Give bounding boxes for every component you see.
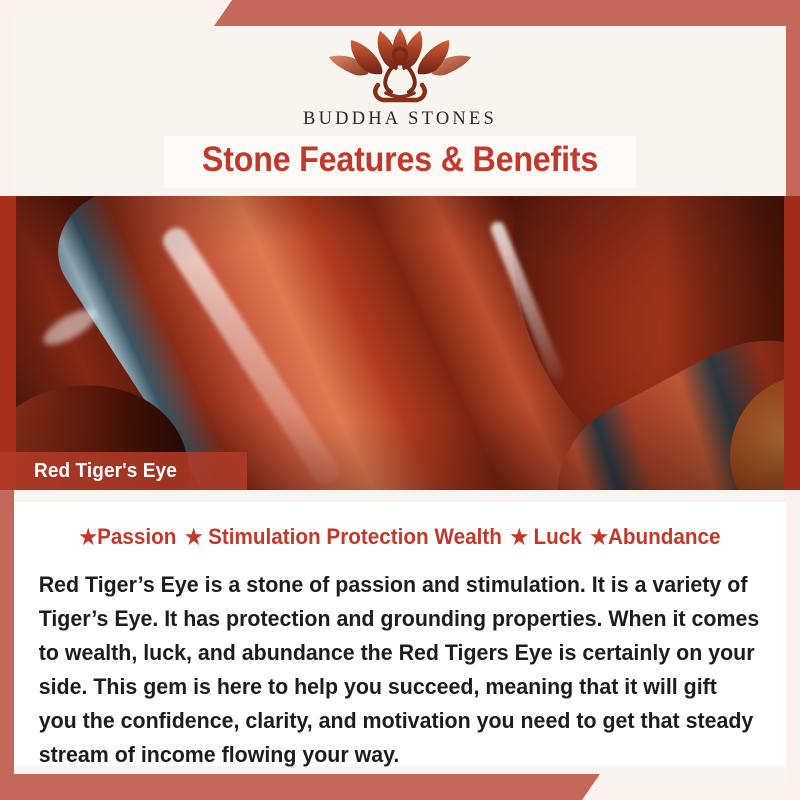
stone-photo: Red Tiger's Eye xyxy=(0,196,800,490)
benefits-list: ★Passion★ Stimulation Protection Wealth★… xyxy=(37,524,763,550)
benefit-label: Stimulation Protection Wealth xyxy=(208,524,502,549)
photo-edge-right xyxy=(784,196,800,490)
lotus-meditation-icon xyxy=(325,26,475,104)
benefit-label: Passion xyxy=(97,524,176,549)
description-paragraph: Red Tiger’s Eye is a stone of passion an… xyxy=(14,568,787,772)
star-icon: ★ xyxy=(590,526,608,549)
header: BUDDHA STONES Stone Features & Benefits xyxy=(0,0,800,196)
star-icon: ★ xyxy=(79,526,97,549)
brand-name: BUDDHA STONES xyxy=(303,109,497,130)
stone-name-label: Red Tiger's Eye xyxy=(34,460,177,483)
benefit-label: Luck xyxy=(534,524,582,549)
brand-logo: BUDDHA STONES xyxy=(0,26,800,130)
stone-shadow xyxy=(0,196,800,490)
stone-name-badge: Red Tiger's Eye xyxy=(0,452,247,490)
page-title: Stone Features & Benefits xyxy=(32,140,768,180)
star-icon: ★ xyxy=(510,526,533,549)
infographic-page: BUDDHA STONES Stone Features & Benefits … xyxy=(0,0,800,800)
photo-edge-left xyxy=(0,196,16,490)
content-panel: ★Passion★ Stimulation Protection Wealth★… xyxy=(14,502,786,766)
benefit-label: Abundance xyxy=(608,524,721,549)
star-icon: ★ xyxy=(185,526,208,549)
decor-band-bottom xyxy=(0,774,600,800)
